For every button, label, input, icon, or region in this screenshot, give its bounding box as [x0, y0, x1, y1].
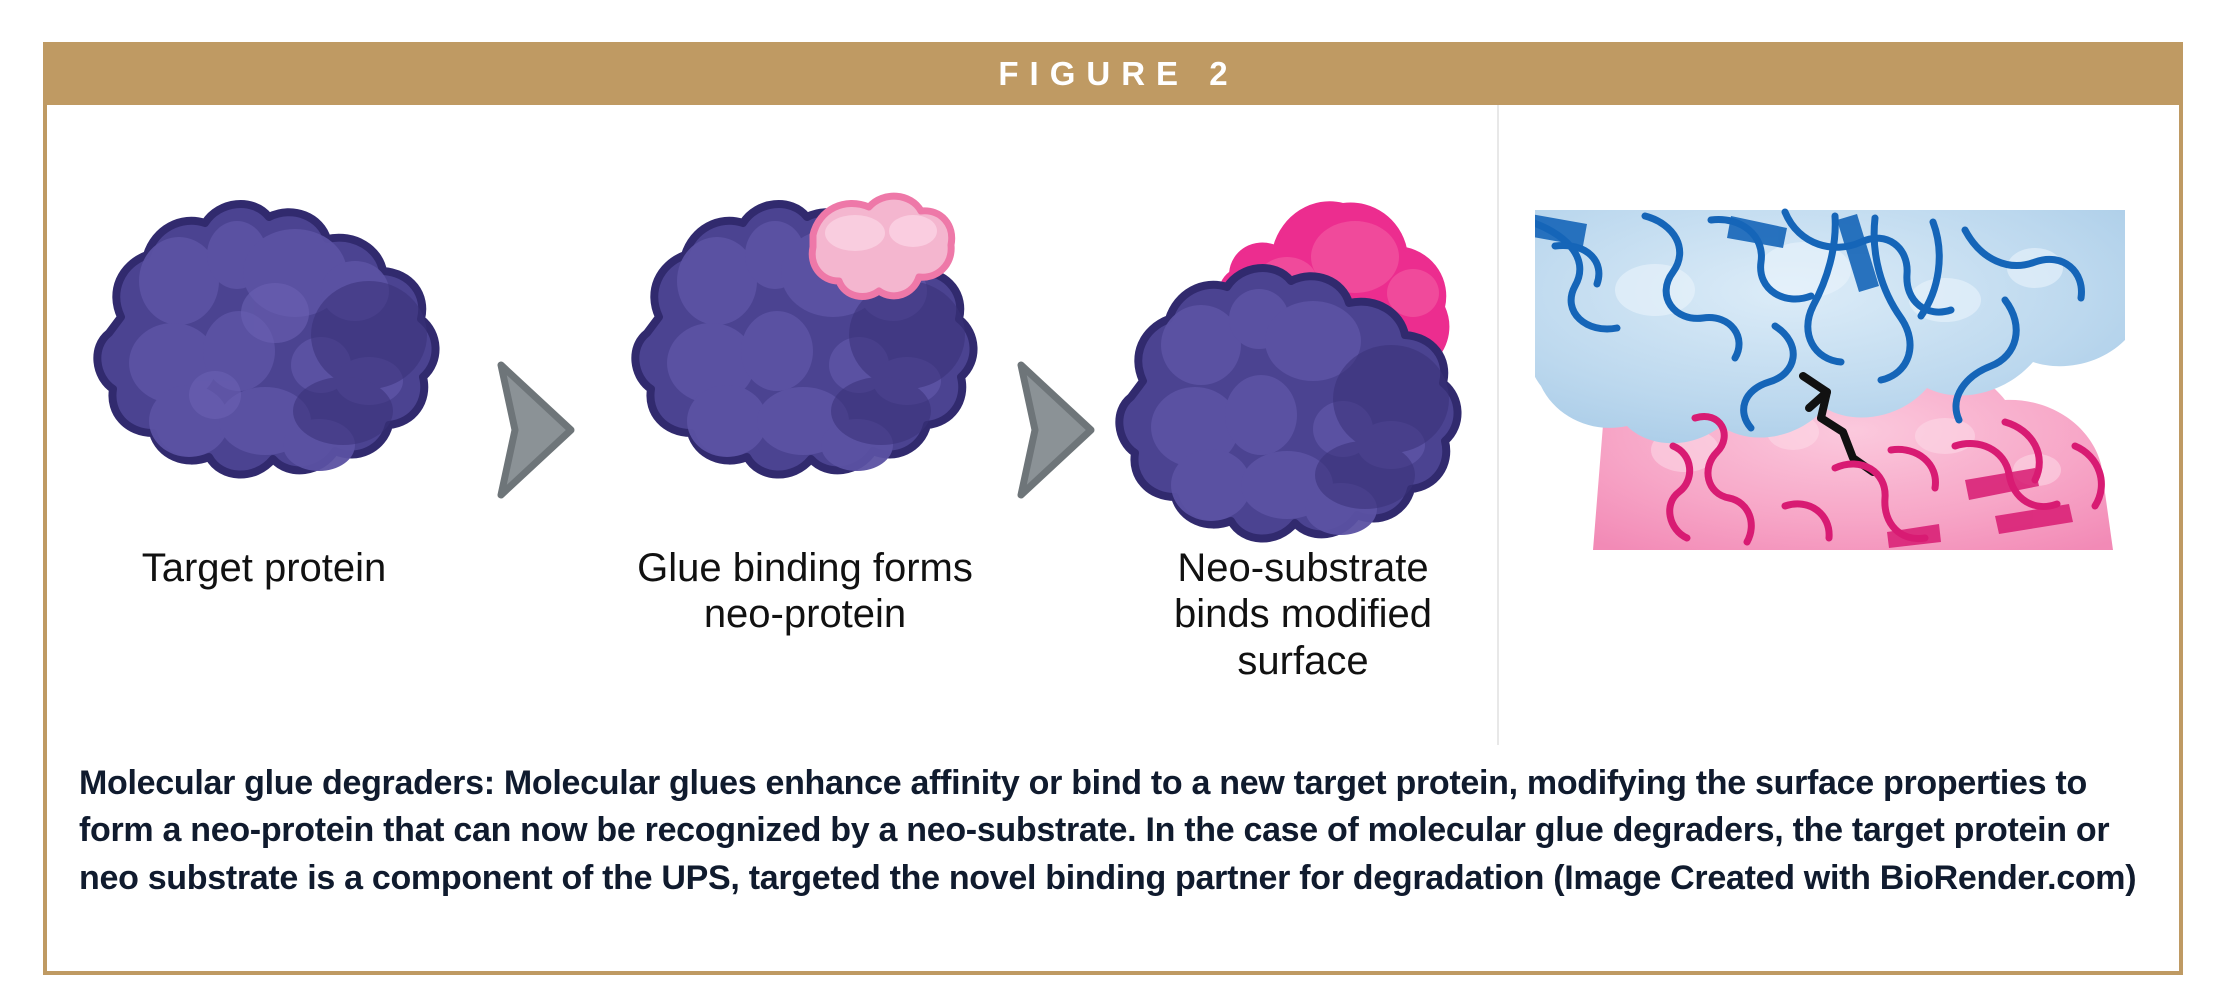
- neo-substrate-complex-illustration: [1107, 105, 1499, 545]
- step-label-glue-binding: Glue binding forms neo-protein: [607, 545, 1003, 638]
- figure-content: Target protein: [47, 105, 2179, 745]
- figure-caption-text: Molecular glue degraders: Molecular glue…: [79, 760, 2139, 902]
- structure-region: [1499, 105, 2179, 745]
- step-label-target-protein: Target protein: [69, 545, 459, 591]
- protein-complex-structure-image: [1535, 150, 2125, 550]
- neo-protein-illustration: [607, 105, 1003, 545]
- step-target-protein: Target protein: [69, 105, 459, 745]
- figure-title-band: FIGURE 2: [43, 42, 2183, 105]
- diagram-region: Target protein: [47, 105, 1499, 745]
- figure-title: FIGURE 2: [987, 55, 1238, 93]
- protein-blob-purple: [97, 204, 435, 475]
- target-protein-illustration: [69, 105, 459, 545]
- figure-frame: FIGURE 2: [43, 42, 2183, 975]
- step-neo-substrate-binding: Neo-substrate binds modified surface: [1107, 105, 1499, 745]
- process-flow-steps: Target protein: [47, 105, 1499, 745]
- arrow-step1-to-step2: [487, 355, 583, 505]
- figure-caption: Molecular glue degraders: Molecular glue…: [79, 760, 2139, 902]
- step-label-neo-substrate: Neo-substrate binds modified surface: [1107, 545, 1499, 684]
- step-glue-binding: Glue binding forms neo-protein: [607, 105, 1003, 745]
- arrow-step2-to-step3: [1007, 355, 1103, 505]
